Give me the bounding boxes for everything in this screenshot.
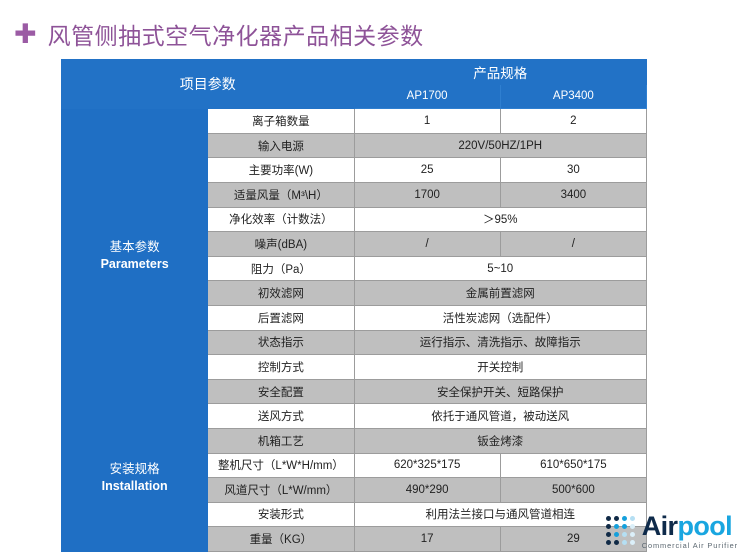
param-name: 安全配置 [208,379,354,404]
param-value-merged: 钣金烤漆 [354,428,647,453]
airpool-logo: Airpool Commercial Air Purifier [606,513,738,549]
page-title-text: 风管侧抽式空气净化器产品相关参数 [48,17,424,51]
param-value-ap1700: 1 [354,109,500,134]
param-value-ap3400: 610*650*175 [500,453,646,478]
table-body: 项目参数 产品规格 AP1700 AP3400 基本参数 Parameters … [62,60,647,552]
logo-dot [614,532,619,537]
logo-brand-pool: pool [677,511,732,541]
section-label-en: Parameters [62,256,207,273]
param-name: 噪声(dBA) [208,232,354,257]
param-name: 整机尺寸（L*W*H/mm） [208,453,354,478]
param-name: 后置滤网 [208,305,354,330]
param-value-merged: 依托于通风管道，被动送风 [354,404,647,429]
section-label-cn: 安装规格 [62,461,207,478]
header-model-ap3400: AP3400 [500,84,646,109]
param-name: 净化效率（计数法） [208,207,354,232]
param-value-ap1700: 1700 [354,182,500,207]
param-value-ap1700: 25 [354,158,500,183]
logo-dot [630,524,635,529]
section-label-cn: 基本参数 [62,239,207,256]
param-value-merged: 金属前置滤网 [354,281,647,306]
param-name: 初效滤网 [208,281,354,306]
param-value-ap3400: 2 [500,109,646,134]
param-value-merged: 活性炭滤网（选配件） [354,305,647,330]
param-value-merged: ＞95% [354,207,647,232]
logo-dot [614,540,619,545]
param-name: 风道尺寸（L*W/mm） [208,478,354,503]
logo-dot [622,524,627,529]
param-name: 安装形式 [208,502,354,527]
table-header-row-1: 项目参数 产品规格 [62,60,647,85]
logo-dot [630,540,635,545]
section-label-parameters: 基本参数 Parameters [62,109,208,404]
section-label-installation: 安装规格 Installation [62,404,208,552]
header-product-spec: 产品规格 [354,60,647,85]
param-value-ap1700: 490*290 [354,478,500,503]
logo-tagline: Commercial Air Purifier [642,542,738,549]
logo-dot [622,516,627,521]
param-name: 适量风量（M³\H） [208,182,354,207]
param-value-merged: 利用法兰接口与通风管道相连 [354,502,647,527]
section-label-en: Installation [62,478,207,495]
logo-dot [614,524,619,529]
param-name: 输入电源 [208,133,354,158]
header-model-ap1700: AP1700 [354,84,500,109]
param-value-merged: 运行指示、清洗指示、故障指示 [354,330,647,355]
logo-brand-air: Air [642,511,678,541]
logo-dot [606,540,611,545]
logo-dot [630,532,635,537]
logo-dot [606,516,611,521]
param-name: 重量（KG） [208,527,354,552]
param-value-ap1700: 620*325*175 [354,453,500,478]
param-value-merged: 开关控制 [354,355,647,380]
header-item-params: 项目参数 [62,60,355,109]
logo-brand: Airpool [642,513,738,540]
table-row: 基本参数 Parameters 离子箱数量 1 2 [62,109,647,134]
param-value-ap3400: 30 [500,158,646,183]
logo-dot [630,516,635,521]
param-name: 离子箱数量 [208,109,354,134]
dot-matrix-icon [606,516,636,546]
logo-dot [606,532,611,537]
param-name: 状态指示 [208,330,354,355]
param-value-merged: 220V/50HZ/1PH [354,133,647,158]
param-name: 控制方式 [208,355,354,380]
product-spec-table: 项目参数 产品规格 AP1700 AP3400 基本参数 Parameters … [61,59,647,552]
table-row: 安装规格 Installation 送风方式 依托于通风管道，被动送风 [62,404,647,429]
param-value-ap3400: 500*600 [500,478,646,503]
plus-bullet-icon: ✚ [14,21,37,48]
page-title: ✚ 风管侧抽式空气净化器产品相关参数 [14,16,424,52]
param-value-merged: 5~10 [354,256,647,281]
param-name: 阻力（Pa） [208,256,354,281]
param-name: 机箱工艺 [208,428,354,453]
logo-dot [622,532,627,537]
logo-dot [614,516,619,521]
param-value-merged: 安全保护开关、短路保护 [354,379,647,404]
param-value-ap3400: / [500,232,646,257]
param-value-ap1700: 17 [354,527,500,552]
logo-dot [622,540,627,545]
param-value-ap1700: / [354,232,500,257]
logo-wordmark: Airpool Commercial Air Purifier [642,513,738,549]
param-name: 送风方式 [208,404,354,429]
param-value-ap3400: 3400 [500,182,646,207]
param-name: 主要功率(W) [208,158,354,183]
logo-dot [606,524,611,529]
